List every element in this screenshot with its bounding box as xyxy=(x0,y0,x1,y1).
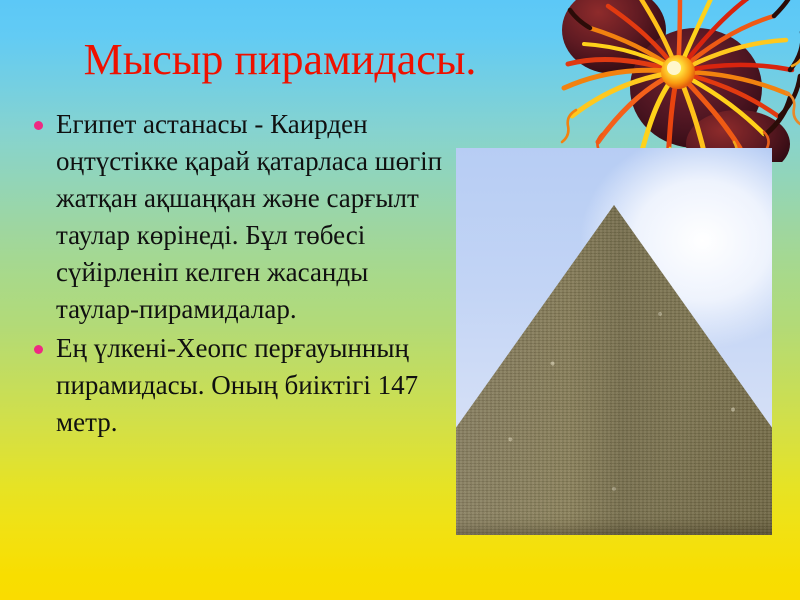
fireworks-icon xyxy=(528,0,800,162)
bullet-dot-icon xyxy=(34,121,43,130)
slide-title: Мысыр пирамидасы. xyxy=(0,33,560,87)
bullet-text: Ең үлкені-Хеопс перғауынның пирамидасы. … xyxy=(56,330,446,441)
pyramid-photo xyxy=(456,148,772,535)
list-item: Ең үлкені-Хеопс перғауынның пирамидасы. … xyxy=(26,330,446,441)
bullet-text: Египет астанасы - Каирден оңтүстікке қар… xyxy=(56,106,446,328)
slide-body: Египет астанасы - Каирден оңтүстікке қар… xyxy=(26,106,446,443)
bullet-dot-icon xyxy=(34,345,43,354)
list-item: Египет астанасы - Каирден оңтүстікке қар… xyxy=(26,106,446,328)
presentation-slide: Мысыр пирамидасы. Египет астанасы - Каир… xyxy=(0,0,800,600)
